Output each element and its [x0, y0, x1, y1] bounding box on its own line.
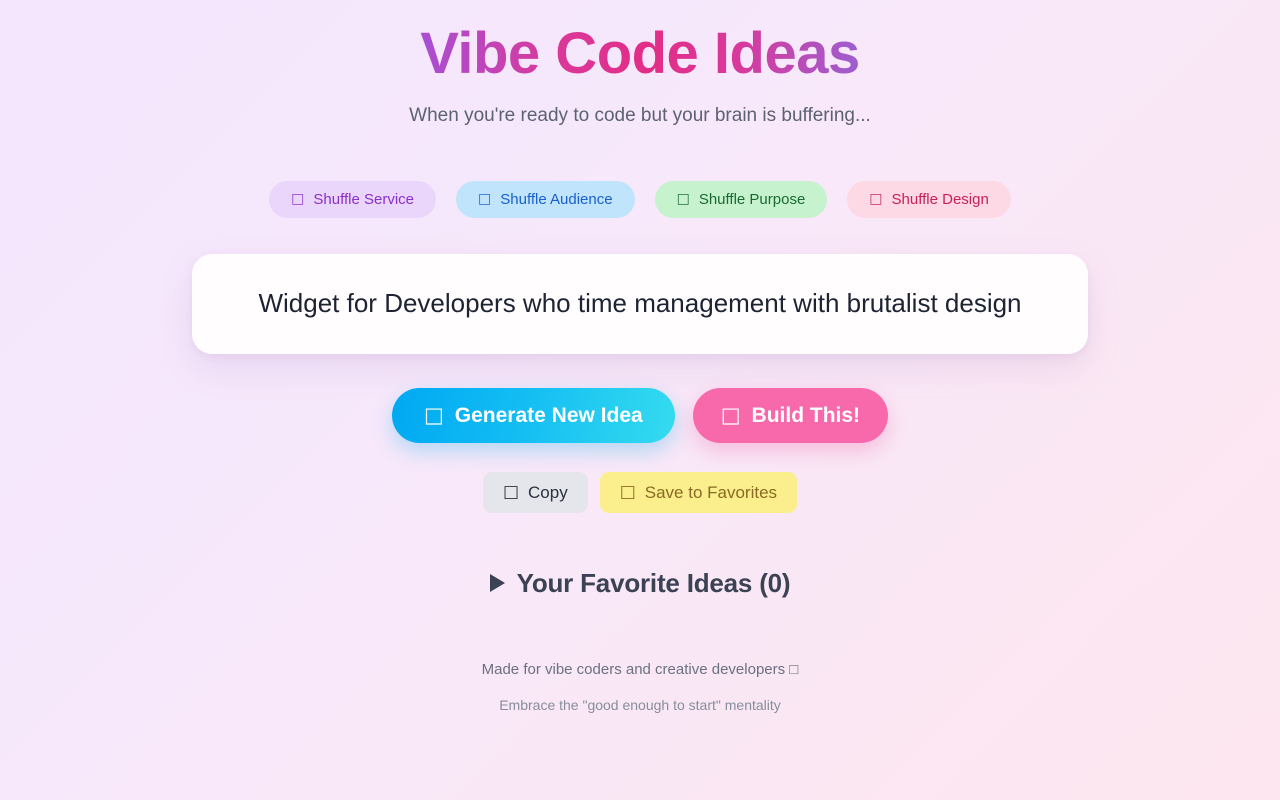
shuffle-button-row: □ Shuffle Service □ Shuffle Audience □ S…: [269, 181, 1011, 218]
dice-icon: □: [677, 192, 690, 206]
page-title: Vibe Code Ideas: [420, 22, 859, 87]
idea-text: Widget for Developers who time managemen…: [258, 287, 1021, 321]
page-subtitle: When you're ready to code but your brain…: [409, 105, 871, 127]
shuffle-audience-label: Shuffle Audience: [500, 192, 612, 207]
app-root: Vibe Code Ideas When you're ready to cod…: [0, 0, 1280, 800]
shuffle-purpose-label: Shuffle Purpose: [699, 192, 805, 207]
shuffle-audience-button[interactable]: □ Shuffle Audience: [456, 181, 635, 218]
footer-tagline: Embrace the "good enough to start" menta…: [482, 697, 799, 713]
generate-new-idea-label: Generate New Idea: [455, 405, 643, 426]
shuffle-design-label: Shuffle Design: [892, 192, 989, 207]
shuffle-service-button[interactable]: □ Shuffle Service: [269, 181, 436, 218]
shuffle-design-button[interactable]: □ Shuffle Design: [847, 181, 1011, 218]
sparkles-icon: □: [424, 405, 444, 426]
footer: Made for vibe coders and creative develo…: [482, 661, 799, 713]
build-this-label: Build This!: [752, 405, 861, 426]
save-to-favorites-label: Save to Favorites: [645, 484, 777, 501]
hammer-icon: □: [721, 405, 741, 426]
favorites-label: Your Favorite Ideas (0): [517, 568, 791, 599]
star-icon: □: [620, 484, 636, 501]
shuffle-purpose-button[interactable]: □ Shuffle Purpose: [655, 181, 828, 218]
dice-icon: □: [478, 192, 491, 206]
dice-icon: □: [291, 192, 304, 206]
generate-new-idea-button[interactable]: □ Generate New Idea: [392, 388, 675, 443]
shuffle-service-label: Shuffle Service: [313, 192, 414, 207]
copy-label: Copy: [528, 484, 568, 501]
footer-credit: Made for vibe coders and creative develo…: [482, 661, 799, 678]
primary-action-row: □ Generate New Idea □ Build This!: [392, 388, 888, 443]
idea-card: Widget for Developers who time managemen…: [192, 254, 1088, 354]
copy-button[interactable]: □ Copy: [483, 472, 588, 513]
build-this-button[interactable]: □ Build This!: [693, 388, 888, 443]
favorites-disclosure[interactable]: Your Favorite Ideas (0): [490, 568, 791, 599]
clipboard-icon: □: [503, 484, 519, 501]
secondary-action-row: □ Copy □ Save to Favorites: [483, 472, 797, 513]
save-to-favorites-button[interactable]: □ Save to Favorites: [600, 472, 797, 513]
triangle-right-icon: [490, 574, 505, 592]
dice-icon: □: [869, 192, 882, 206]
